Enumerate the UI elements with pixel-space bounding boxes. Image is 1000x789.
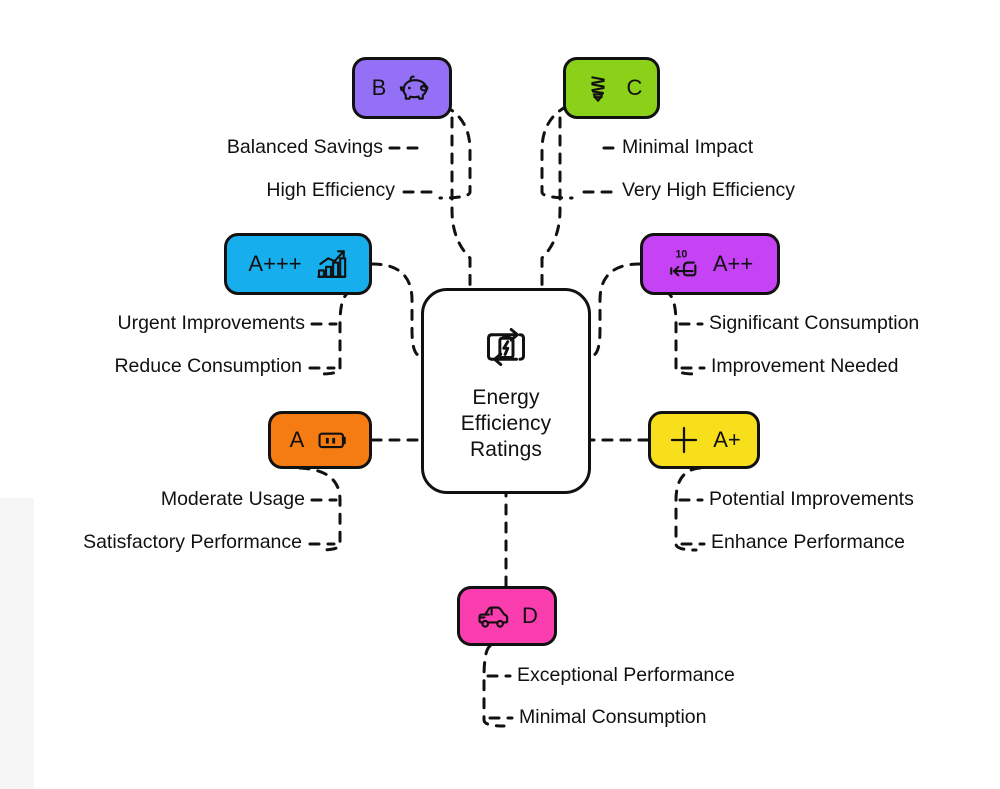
rewind-10-icon: 10 <box>667 247 701 281</box>
connector-b-center <box>452 118 470 288</box>
bar-chart-growth-icon <box>314 247 348 281</box>
leaf-app-1: Significant Consumption <box>709 314 919 334</box>
leaf-b-2: High Efficiency <box>233 181 395 201</box>
piggy-bank-icon <box>398 71 432 105</box>
connector-app-center <box>591 264 640 356</box>
connector-appp-center <box>372 264 421 356</box>
connector-appp-leaves <box>320 292 352 374</box>
connector-a-leaves <box>300 468 340 550</box>
leaf-a-2: Satisfactory Performance <box>40 533 302 553</box>
node-badge-a-label: A <box>290 429 305 451</box>
node-badge-b-label: B <box>372 77 387 99</box>
connector-d-leaves <box>484 646 504 726</box>
leaf-d-1: Exceptional Performance <box>517 666 735 686</box>
battery-recycle-icon <box>478 319 534 375</box>
leaf-d-2: Minimal Consumption <box>519 708 707 728</box>
leaf-aplus-1: Potential Improvements <box>709 490 914 510</box>
center-title-line-2: Efficiency <box>461 411 552 437</box>
center-title-line-3: Ratings <box>461 437 552 463</box>
car-icon <box>476 599 510 633</box>
leaf-b-1: Balanced Savings <box>203 138 383 158</box>
center-node[interactable]: Energy Efficiency Ratings <box>421 288 591 494</box>
connector-app-leaves <box>664 292 696 374</box>
battery-level-icon <box>316 423 350 457</box>
node-badge-c[interactable]: C <box>563 57 660 119</box>
leaf-c-2: Very High Efficiency <box>622 181 795 201</box>
node-badge-aplus[interactable]: A+ <box>648 411 760 469</box>
node-badge-b[interactable]: B <box>352 57 452 119</box>
leaf-c-1: Minimal Impact <box>622 138 753 158</box>
node-badge-appp-label: A+++ <box>248 253 301 275</box>
center-title-line-1: Energy <box>461 385 552 411</box>
connector-aplus-leaves <box>676 468 700 550</box>
connector-c-center <box>542 118 560 288</box>
node-badge-app[interactable]: 10 A++ <box>640 233 780 295</box>
leaf-aplus-2: Enhance Performance <box>711 533 905 553</box>
center-node-title: Energy Efficiency Ratings <box>461 385 552 463</box>
leaf-app-2: Improvement Needed <box>711 357 899 377</box>
svg-text:10: 10 <box>675 249 687 261</box>
node-badge-appp[interactable]: A+++ <box>224 233 372 295</box>
diagram-canvas: Energy Efficiency Ratings B C <box>0 0 1000 789</box>
watermark-strip <box>0 498 34 789</box>
node-badge-d[interactable]: D <box>457 586 557 646</box>
node-badge-app-label: A++ <box>713 253 753 275</box>
leaf-a-1: Moderate Usage <box>137 490 305 510</box>
node-badge-d-label: D <box>522 605 538 627</box>
leaf-appp-2: Reduce Consumption <box>82 357 302 377</box>
node-badge-c-label: C <box>627 77 643 99</box>
plus-icon <box>667 423 701 457</box>
cfl-bulb-icon <box>581 71 615 105</box>
node-badge-a[interactable]: A <box>268 411 372 469</box>
leaf-appp-1: Urgent Improvements <box>79 314 305 334</box>
node-badge-aplus-label: A+ <box>713 429 741 451</box>
